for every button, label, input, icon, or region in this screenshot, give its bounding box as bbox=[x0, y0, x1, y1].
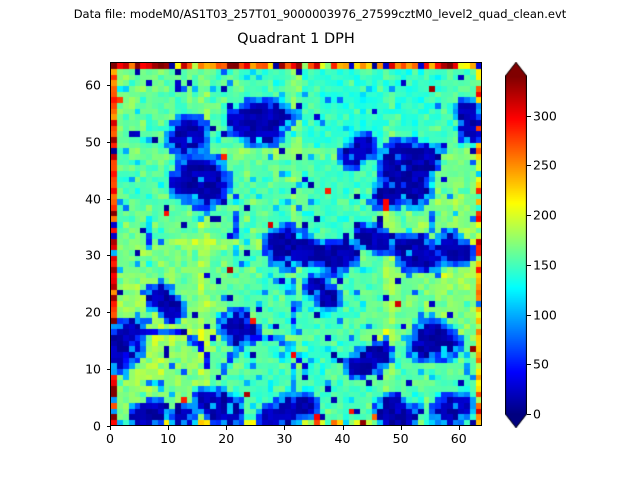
colorbar-tick-mark bbox=[527, 315, 531, 316]
colorbar-tick-mark bbox=[527, 215, 531, 216]
y-tick-mark bbox=[107, 142, 111, 143]
y-tick-label: 20 bbox=[85, 305, 101, 320]
colorbar-tick-label: 200 bbox=[533, 208, 557, 223]
x-tick-label: 10 bbox=[160, 431, 176, 446]
y-tick-label: 10 bbox=[85, 362, 101, 377]
colorbar-gradient bbox=[505, 62, 527, 428]
x-tick-mark bbox=[343, 426, 344, 430]
colorbar bbox=[505, 62, 527, 428]
x-tick-label: 50 bbox=[393, 431, 409, 446]
matplotlib-figure: Data file: modeM0/AS1T03_257T01_90000039… bbox=[0, 0, 640, 480]
x-tick-mark bbox=[459, 426, 460, 430]
y-tick-mark bbox=[107, 369, 111, 370]
y-tick-label: 50 bbox=[85, 134, 101, 149]
colorbar-tick-mark bbox=[527, 116, 531, 117]
x-tick-label: 40 bbox=[335, 431, 351, 446]
y-tick-mark bbox=[107, 426, 111, 427]
heatmap-axes bbox=[110, 62, 482, 426]
x-tick-mark bbox=[401, 426, 402, 430]
x-tick-label: 20 bbox=[218, 431, 234, 446]
colorbar-tick-label: 100 bbox=[533, 307, 557, 322]
x-tick-label: 0 bbox=[106, 431, 114, 446]
x-tick-mark bbox=[168, 426, 169, 430]
y-tick-label: 60 bbox=[85, 77, 101, 92]
x-tick-mark bbox=[110, 426, 111, 430]
heatmap-image bbox=[111, 63, 481, 425]
colorbar-tick-label: 250 bbox=[533, 158, 557, 173]
y-tick-mark bbox=[107, 312, 111, 313]
colorbar-tick-label: 300 bbox=[533, 108, 557, 123]
colorbar-tick-mark bbox=[527, 364, 531, 365]
y-tick-label: 40 bbox=[85, 191, 101, 206]
x-tick-mark bbox=[284, 426, 285, 430]
datafile-label: Data file: modeM0/AS1T03_257T01_90000039… bbox=[0, 7, 640, 21]
y-tick-mark bbox=[107, 85, 111, 86]
x-tick-label: 30 bbox=[276, 431, 292, 446]
y-tick-mark bbox=[107, 199, 111, 200]
page-title: Quadrant 1 DPH bbox=[110, 31, 482, 47]
colorbar-tick-label: 50 bbox=[533, 357, 549, 372]
x-tick-mark bbox=[226, 426, 227, 430]
colorbar-tick-mark bbox=[527, 414, 531, 415]
colorbar-tick-mark bbox=[527, 165, 531, 166]
x-tick-label: 60 bbox=[451, 431, 467, 446]
y-tick-label: 30 bbox=[85, 248, 101, 263]
colorbar-tick-mark bbox=[527, 265, 531, 266]
colorbar-tick-label: 0 bbox=[533, 407, 541, 422]
colorbar-tick-label: 150 bbox=[533, 257, 557, 272]
y-tick-label: 0 bbox=[93, 419, 101, 434]
y-tick-mark bbox=[107, 255, 111, 256]
